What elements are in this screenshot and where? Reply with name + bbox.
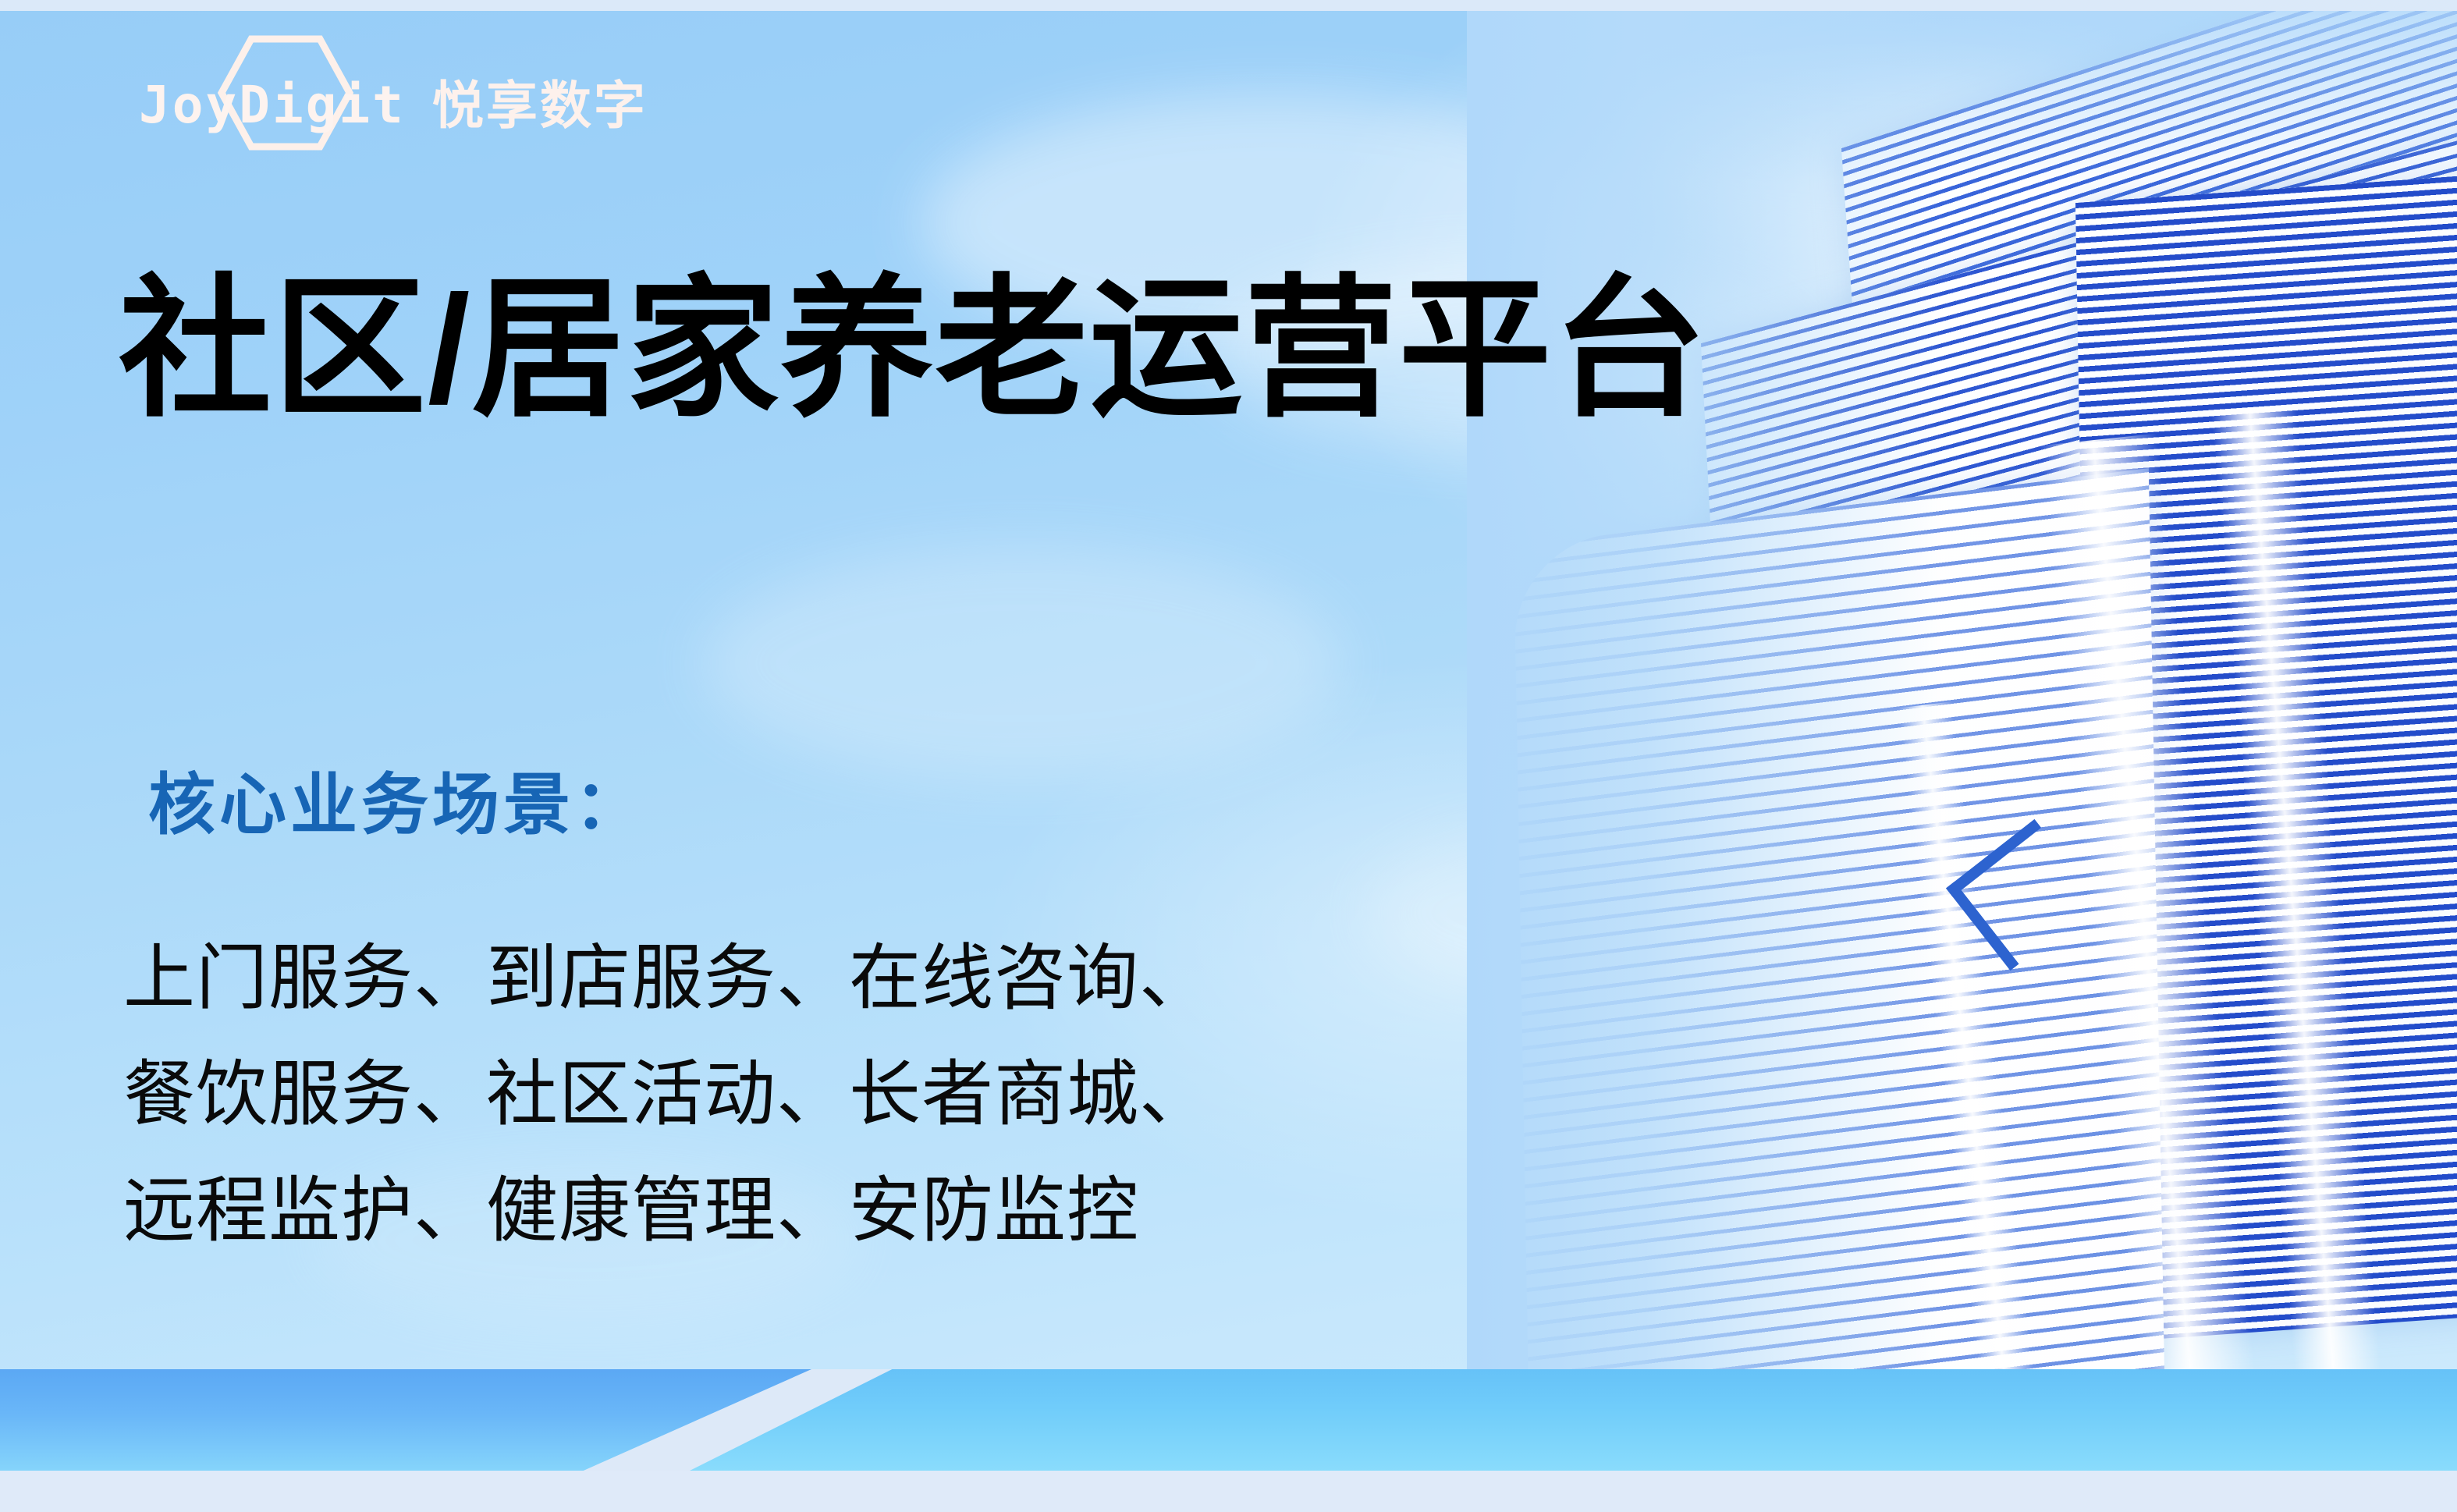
band-segment-middle <box>687 1369 2457 1472</box>
scenario-list: 上门服务、到店服务、在线咨询、 餐饮服务、社区活动、长者商城、 远程监护、健康管… <box>123 921 1212 1269</box>
logo-chinese-name: 悦享数字 <box>432 80 648 131</box>
band-segment-left <box>0 1369 811 1472</box>
image-edge-fade <box>1467 0 2457 1404</box>
band-base-strip <box>0 1471 2457 1512</box>
scenario-line: 上门服务、到店服务、在线咨询、 <box>123 921 1212 1037</box>
skyscraper-image <box>1467 0 2457 1404</box>
cloud-shape <box>702 546 1342 780</box>
top-edge-strip <box>0 0 2457 11</box>
scenario-line: 远程监护、健康管理、安防监控 <box>123 1153 1212 1269</box>
page-title: 社区/居家养老运营平台 <box>119 269 1707 430</box>
brand-logo[interactable]: JoyDigit 悦享数字 <box>139 70 648 140</box>
slide-canvas: JoyDigit 悦享数字 社区/居家养老运营平台 核心业务场景： 上门服务、到… <box>0 0 2457 1512</box>
logo-wordmark: JoyDigit <box>139 80 406 131</box>
scenario-line: 餐饮服务、社区活动、长者商城、 <box>123 1037 1212 1153</box>
bottom-decor-band <box>0 1369 2457 1512</box>
section-subheading: 核心业务场景： <box>148 768 645 843</box>
